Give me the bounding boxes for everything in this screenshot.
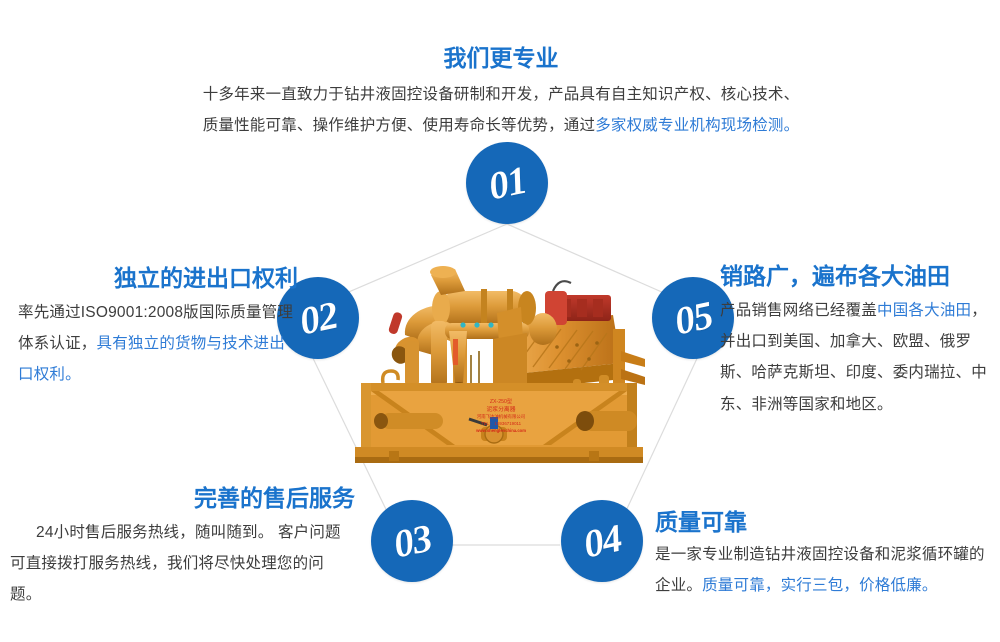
step-circle-03[interactable]: 03	[371, 500, 453, 582]
machine-label-line2: 泥浆分离器	[487, 405, 516, 413]
section-02-body: 率先通过ISO9001:2008版国际质量管理体系认证，具有独立的货物与技术进出…	[18, 297, 298, 391]
step-number-03: 03	[390, 518, 434, 564]
section-05-text: 销路广，遍布各大油田 产品销售网络已经覆盖中国各大油田，并出口到美国、加拿大、欧…	[720, 262, 990, 420]
machine-label-line3: 河南飞达油机械有限公司	[477, 413, 525, 420]
machine-label-line5: www.shenglenchina.com	[475, 428, 526, 433]
section-03-body: 24小时售后服务热线，随叫随到。 客户问题可直接拨打服务热线，我们将尽快处理您的…	[10, 517, 355, 611]
section-01-body-line2: 质量性能可靠、操作维护方便、使用寿命长等优势，通过	[203, 117, 596, 134]
section-03-text: 完善的售后服务 24小时售后服务热线，随叫随到。 客户问题可直接拨打服务热线，我…	[10, 484, 355, 611]
section-05-body: 产品销售网络已经覆盖中国各大油田，并出口到美国、加拿大、欧盟、俄罗斯、哈萨克斯坦…	[720, 295, 990, 420]
section-04-body-highlight: 质量可靠，实行三包，价格低廉。	[702, 577, 938, 594]
step-number-05: 05	[671, 295, 715, 341]
machine-label-line1: ZX-250型	[490, 397, 512, 405]
step-number-04: 04	[580, 518, 624, 564]
section-04-body: 是一家专业制造钻井液固控设备和泥浆循环罐的企业。质量可靠，实行三包，价格低廉。	[655, 539, 990, 602]
section-01-text: 我们更专业 十多年来一直致力于钻井液固控设备研制和开发，产品具有自主知识产权、核…	[145, 44, 857, 141]
section-01-body: 十多年来一直致力于钻井液固控设备研制和开发，产品具有自主知识产权、核心技术、 质…	[145, 79, 857, 142]
step-circle-01[interactable]: 01	[466, 142, 548, 224]
section-05-body-highlight: 中国各大油田	[877, 302, 971, 319]
section-01-body-line1: 十多年来一直致力于钻井液固控设备研制和开发，产品具有自主知识产权、核心技术、	[203, 86, 800, 103]
section-04-heading: 质量可靠	[655, 508, 990, 537]
section-02-text: 独立的进出口权利 率先通过ISO9001:2008版国际质量管理体系认证，具有独…	[18, 264, 298, 391]
infographic-canvas: ZX-250型 泥浆分离器 河南飞达油机械有限公司 TEL： 159367190…	[0, 0, 1000, 642]
machine-label-line4: TEL： 15936719011	[481, 421, 522, 426]
section-05-body-plain-a: 产品销售网络已经覆盖	[720, 302, 877, 319]
step-circle-04[interactable]: 04	[561, 500, 643, 582]
machine-illustration: ZX-250型 泥浆分离器 河南飞达油机械有限公司 TEL： 159367190…	[345, 255, 655, 480]
section-05-heading: 销路广，遍布各大油田	[720, 262, 990, 291]
section-01-heading: 我们更专业	[145, 44, 857, 73]
section-03-heading: 完善的售后服务	[10, 484, 355, 513]
section-04-text: 质量可靠 是一家专业制造钻井液固控设备和泥浆循环罐的企业。质量可靠，实行三包，价…	[655, 508, 990, 601]
section-02-heading: 独立的进出口权利	[18, 264, 298, 293]
step-number-01: 01	[485, 160, 529, 206]
step-number-02: 02	[296, 295, 340, 341]
section-01-body-highlight: 多家权威专业机构现场检测。	[595, 117, 799, 134]
